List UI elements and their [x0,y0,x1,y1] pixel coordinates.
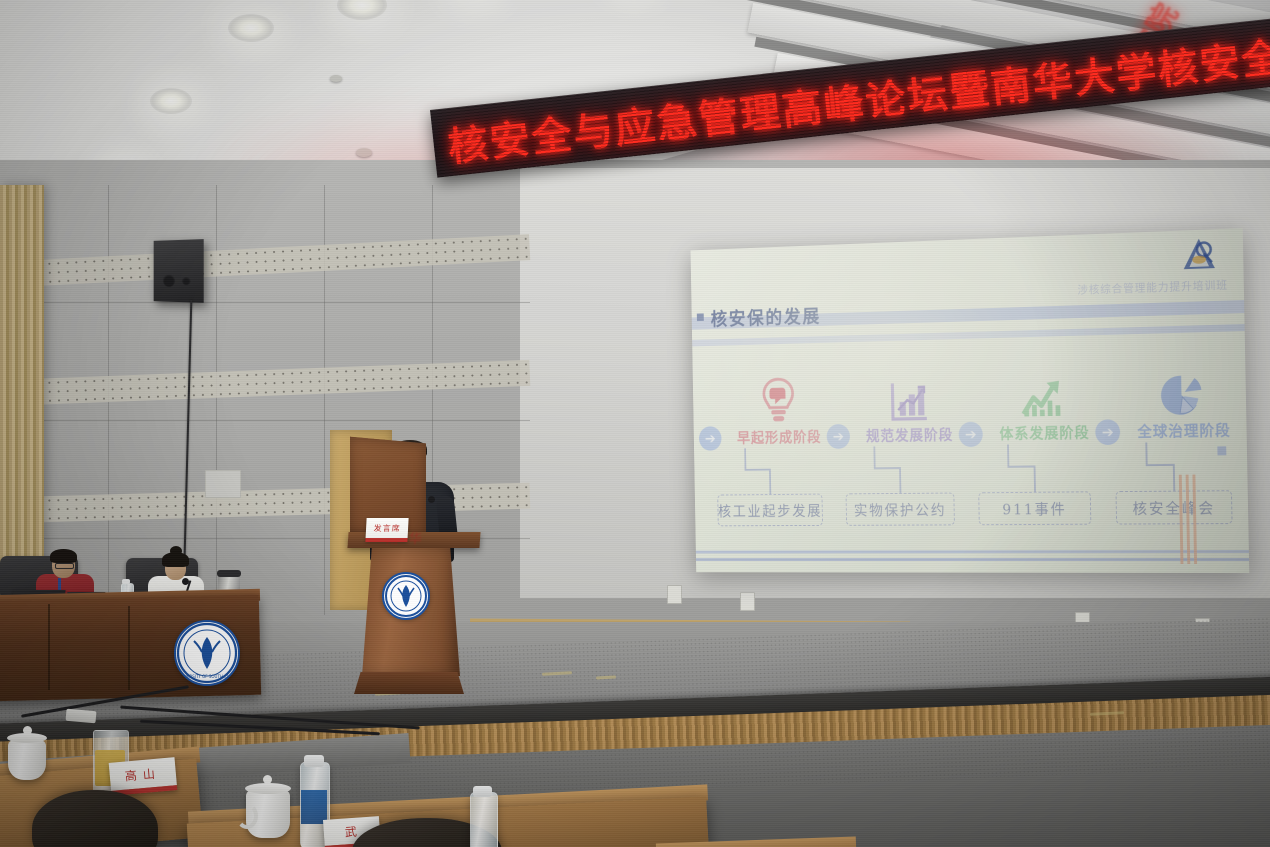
water-bottle-right-cap [473,786,492,797]
podium-base [354,672,464,694]
person-left-hair [50,549,77,563]
event-box-3: 911事件 [978,491,1091,525]
connector-4c [1173,464,1175,492]
head-table-thermos-cap [217,570,241,577]
stage-item-3: 体系发展阶段 [980,358,1109,443]
stage-item-1: 早起形成阶段 [718,365,839,448]
tea-cup-center-handle [236,803,258,829]
head-table-seam-1 [48,604,50,690]
smoke-detector-2 [356,148,372,157]
lightbulb-icon [718,365,838,426]
svg-text:UNIVERSITY OF SOUTH CHINA: UNIVERSITY OF SOUTH CHINA [177,674,237,679]
slide-header-label: 涉核综合管理能力提升培训班 [1077,277,1228,298]
wall-loudspeaker [154,239,204,303]
stage-item-2: 规范发展阶段 [847,362,972,446]
conference-hall-photo: 研究院 涉核综合管理能力提升 [0,0,1270,847]
connector-1c [769,469,771,495]
power-strip [66,709,97,724]
podium-university-emblem [382,572,430,620]
water-bottle-right [470,792,498,847]
connector-2 [873,446,875,467]
wall-outlet-5 [205,470,241,498]
name-tent-left: 高山 [109,757,178,796]
tea-cup-left [8,740,46,780]
connector-2c [899,467,901,494]
stage-item-4: 全球治理阶段 [1117,355,1249,442]
stage-label-1: 早起形成阶段 [720,426,840,448]
institute-logo [1176,235,1222,276]
tea-cup-left-knob [23,726,32,735]
slide-footer-line-1 [696,550,1249,553]
slide-side-dot [1217,446,1226,455]
event-box-2: 实物保护公约 [846,493,955,526]
side-curtain [0,185,44,605]
connector-1 [744,448,746,469]
speaker-woofer [163,274,175,287]
stage-flow-row: ➔ ➔ ➔ ➔ 早起形成阶段 [693,363,1247,449]
head-table-university-emblem: UNIVERSITY OF SOUTH CHINA [174,620,240,686]
podium-nameplate: 发言席 [365,518,408,542]
water-bottle-center-label [301,790,327,824]
water-bottle-center-cap [304,755,324,767]
pie-chart-icon [1117,355,1249,419]
tea-cup-center-lid [245,783,291,794]
wall-outlet-1 [667,585,682,604]
slide-footer-line-2 [696,558,1249,561]
connector-3 [1007,444,1009,465]
flow-arrow-1-icon: ➔ [699,426,722,451]
downlight-2 [150,88,192,114]
wall-outlet-2 [740,592,755,611]
speaker-tweeter [182,276,191,285]
tea-cup-center-knob [263,775,272,784]
slide-title: 核安保的发展 [710,302,821,331]
connector-2b [874,467,901,469]
person-right-bun [170,546,182,556]
stage-label-3: 体系发展阶段 [981,421,1109,444]
connector-3c [1034,466,1036,493]
bar-chart-icon [847,362,972,424]
head-table-bottle-cap [122,579,130,584]
head-table-microphone-head [182,578,189,585]
smoke-detector-1 [330,75,342,82]
podium-microphone-head [428,496,435,503]
connector-4b [1146,464,1175,466]
head-table-seam-2 [128,606,130,690]
connector-3b [1007,466,1035,468]
downlight-1 [228,14,274,42]
connector-4 [1145,442,1147,464]
presentation-slide: 涉核综合管理能力提升培训班 核安保的发展 ➔ ➔ ➔ ➔ [691,228,1250,573]
stage-label-2: 规范发展阶段 [848,424,972,446]
stage-label-4: 全球治理阶段 [1118,419,1249,442]
person-left-glasses [55,563,74,569]
event-box-1: 核工业起步发展 [717,494,823,527]
title-bullet-icon [697,313,704,321]
event-box-row: 核工业起步发展 实物保护公约 911事件 核安全峰会 [695,490,1249,532]
growth-arrow-icon [980,358,1109,421]
projector-screen: 涉核综合管理能力提升培训班 核安保的发展 ➔ ➔ ➔ ➔ [691,228,1250,573]
connector-1b [745,469,771,471]
event-box-4: 核安全峰会 [1116,490,1233,524]
